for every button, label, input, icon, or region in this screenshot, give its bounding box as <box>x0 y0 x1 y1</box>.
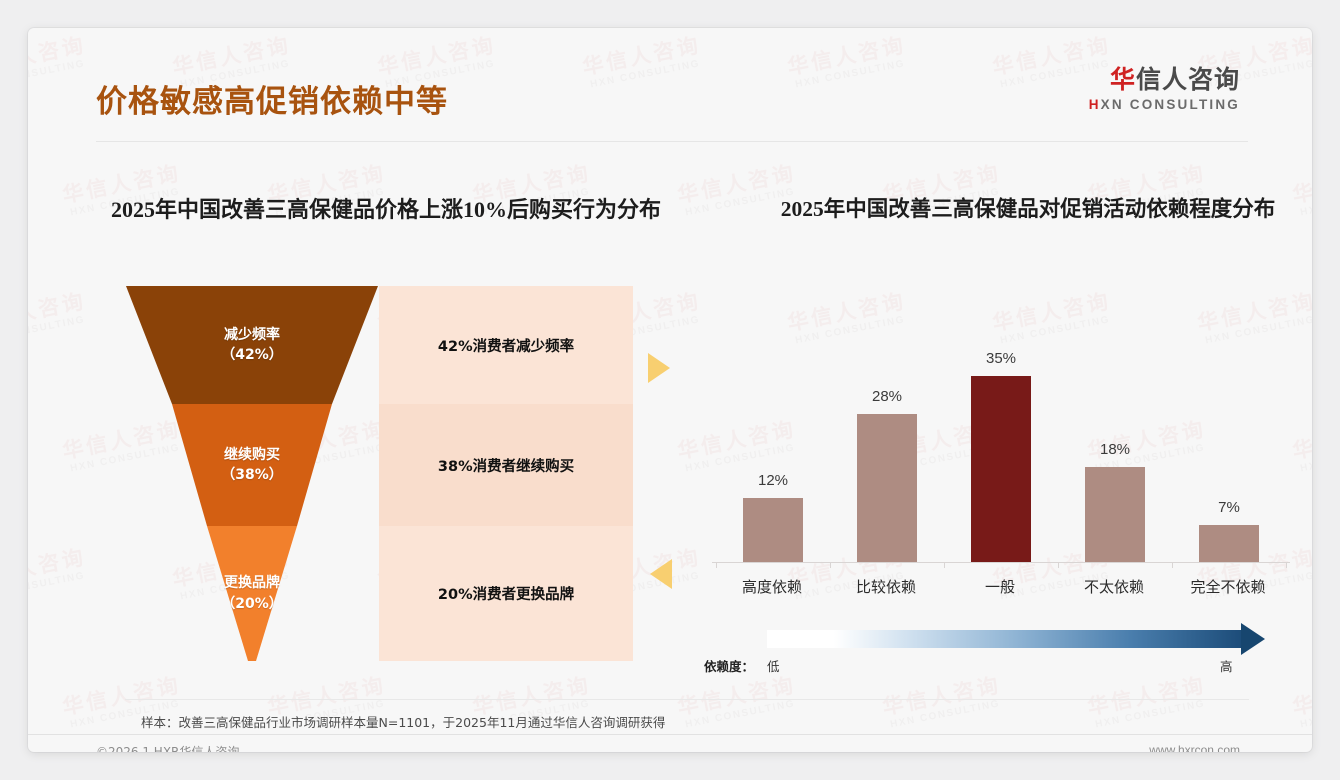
funnel-segment-label-wrap: 减少频率（42%） <box>125 286 379 404</box>
bar-category-label: 高度依赖 <box>716 576 828 597</box>
watermark-mark: 华信人咨询HXN CONSULTING <box>28 547 90 603</box>
funnel-segment-label: 更换品牌（20%） <box>221 573 283 614</box>
funnel-segment-label-wrap: 继续购买（38%） <box>125 404 379 526</box>
logo-chinese: 华信人咨询 <box>1089 66 1240 94</box>
funnel-segment: 减少频率（42%）42%消费者减少频率 <box>125 286 633 404</box>
bar-plot-area: 12%28%35%18%7% <box>716 290 1286 562</box>
watermark-en: HXN CONSULTING <box>885 698 1005 731</box>
footnote-divider <box>125 699 1249 700</box>
triangle-right-icon <box>648 353 670 383</box>
gradient-bar <box>767 630 1245 648</box>
logo-cn-first: 华 <box>1110 65 1136 94</box>
right-chart-title: 2025年中国改善三高保健品对促销活动依赖程度分布 <box>704 196 1312 224</box>
legend-low-label: 低 <box>767 656 780 675</box>
bar-value-label: 35% <box>986 350 1016 367</box>
bar-rect[interactable] <box>743 498 803 562</box>
bar-rect[interactable] <box>1199 525 1259 562</box>
funnel-segment-name: 继续购买 <box>221 445 283 465</box>
bar-value-label: 12% <box>758 472 788 489</box>
funnel-segment-note: 20%消费者更换品牌 <box>379 526 633 661</box>
source-footnote: 样本：改善三高保健品行业市场调研样本量N=1101，于2025年11月通过华信人… <box>141 712 665 731</box>
funnel-segment-name: 减少频率 <box>221 325 283 345</box>
x-axis-tick <box>1286 562 1287 568</box>
dependency-gradient-legend: 依赖度： 低 高 <box>704 624 1312 686</box>
funnel-segment-value: （38%） <box>221 465 283 485</box>
bar-column[interactable]: 35% <box>971 350 1031 562</box>
watermark-mark: 华信人咨询HXN CONSULTING <box>28 291 90 347</box>
x-axis-tick <box>830 562 831 568</box>
bar-value-label: 7% <box>1218 499 1240 516</box>
footer-website: www.hxrcon.com <box>1149 743 1240 752</box>
header-divider <box>96 141 1248 142</box>
logo-en-first: H <box>1089 97 1101 112</box>
x-axis-tick <box>716 562 717 568</box>
bar-rect[interactable] <box>857 414 917 562</box>
funnel-chart: 减少频率（42%）42%消费者减少频率继续购买（38%）38%消费者继续购买更换… <box>125 286 633 661</box>
bar-column[interactable]: 18% <box>1085 441 1145 562</box>
x-axis-line <box>712 562 1290 563</box>
slide-canvas: 华信人咨询HXN CONSULTING华信人咨询HXN CONSULTING华信… <box>28 28 1312 752</box>
watermark-en: HXN CONSULTING <box>1295 698 1312 731</box>
logo-cn-rest: 信人咨询 <box>1136 65 1240 94</box>
bar-column[interactable]: 12% <box>743 472 803 562</box>
legend-label: 依赖度： <box>704 656 754 675</box>
funnel-segment-value: （42%） <box>221 345 283 365</box>
footer-divider <box>28 734 1312 735</box>
gradient-arrow-head-icon <box>1241 623 1265 655</box>
bar-category-label: 一般 <box>944 576 1056 597</box>
watermark-en: HXN CONSULTING <box>680 698 800 731</box>
legend-high-label: 高 <box>1220 656 1233 675</box>
left-chart-title: 2025年中国改善三高保健品价格上涨10%后购买行为分布 <box>72 196 700 224</box>
x-axis-tick <box>944 562 945 568</box>
funnel-segment-label: 减少频率（42%） <box>221 325 283 366</box>
logo-en-rest: XN CONSULTING <box>1101 97 1240 112</box>
bar-category-label: 比较依赖 <box>830 576 942 597</box>
watermark-en: HXN CONSULTING <box>28 314 90 347</box>
watermark-en: HXN CONSULTING <box>1090 698 1210 731</box>
logo-english: HXN CONSULTING <box>1089 97 1240 112</box>
bar-category-label: 完全不依赖 <box>1172 576 1284 597</box>
bar-category-label: 不太依赖 <box>1058 576 1170 597</box>
watermark-cn: 华信人咨询 <box>28 291 88 335</box>
bar-column[interactable]: 28% <box>857 388 917 562</box>
funnel-segment-note: 38%消费者继续购买 <box>379 404 633 526</box>
watermark-cn: 华信人咨询 <box>28 547 88 591</box>
watermark-en: HXN CONSULTING <box>28 570 90 603</box>
funnel-segment-note: 42%消费者减少频率 <box>379 286 633 404</box>
page-title: 价格敏感高促销依赖中等 <box>96 76 448 121</box>
bar-column[interactable]: 7% <box>1199 499 1259 562</box>
triangle-left-icon <box>650 559 672 589</box>
bar-value-label: 18% <box>1100 441 1130 458</box>
bar-value-label: 28% <box>872 388 902 405</box>
x-axis-tick <box>1172 562 1173 568</box>
funnel-segment-label: 继续购买（38%） <box>221 445 283 486</box>
brand-logo: 华信人咨询 HXN CONSULTING <box>1089 66 1240 112</box>
bar-rect-highlighted[interactable] <box>971 376 1031 562</box>
funnel-segment: 继续购买（38%）38%消费者继续购买 <box>125 404 633 526</box>
x-axis-tick <box>1058 562 1059 568</box>
funnel-segment-value: （20%） <box>221 594 283 614</box>
funnel-segment-label-wrap: 更换品牌（20%） <box>125 526 379 661</box>
dependency-bar-chart: 12%28%35%18%7% 高度依赖比较依赖一般不太依赖完全不依赖 <box>704 290 1312 610</box>
funnel-segment-name: 更换品牌 <box>221 573 283 593</box>
funnel-segment: 更换品牌（20%）20%消费者更换品牌 <box>125 526 633 661</box>
slide-header: 价格敏感高促销依赖中等 华信人咨询 HXN CONSULTING <box>28 28 1312 126</box>
footer-copyright: ©2026.1 HXR华信人咨询 <box>96 743 239 752</box>
bar-rect[interactable] <box>1085 467 1145 562</box>
